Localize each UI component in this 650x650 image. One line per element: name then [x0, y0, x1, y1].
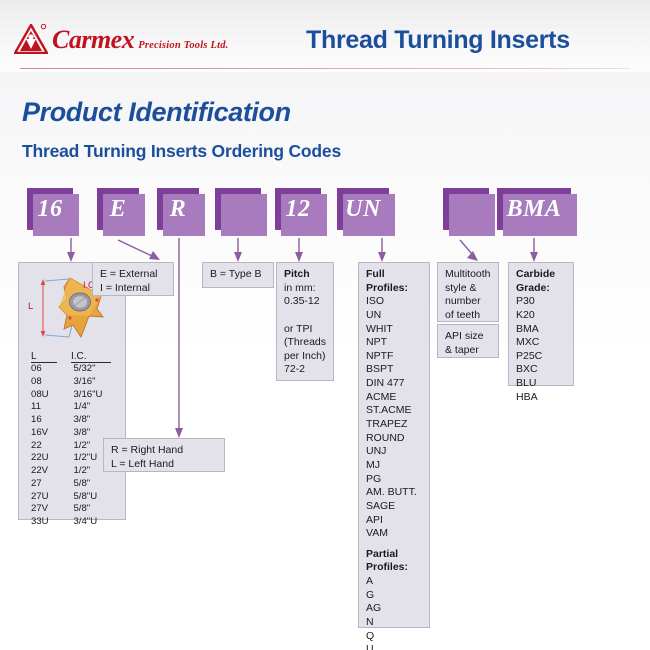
pitch-title: Pitch — [284, 268, 326, 282]
full-profiles-title2: Profiles: — [366, 282, 422, 296]
list-item: TRAPEZ — [366, 418, 422, 432]
partial-profiles-title2: Profiles: — [366, 561, 422, 575]
dimension-label-length: L — [28, 301, 33, 312]
code-box-pitch[interactable]: 12 — [275, 188, 321, 230]
list-item: UNJ — [366, 445, 422, 459]
insert-dimension-panel: L I.C. L I.C. 065/32"083/16"08U3/16"U111… — [18, 262, 126, 520]
cell-l: 27V — [31, 503, 59, 516]
cell-ic: 3/8" — [73, 414, 119, 427]
cell-l: 08 — [31, 376, 59, 389]
table-row: 065/32" — [27, 363, 119, 376]
multitooth-line-1: Multitooth — [445, 268, 491, 282]
full-profiles-list: ISOUNWHITNPTNPTFBSPTDIN 477ACMEST.ACMETR… — [366, 295, 422, 541]
code-box-multitooth[interactable] — [443, 188, 489, 230]
list-item: Q — [366, 630, 422, 644]
api-line-2: & taper — [445, 344, 491, 358]
list-item: ST.ACME — [366, 404, 422, 418]
cell-l: 06 — [31, 363, 59, 376]
page-root: Carmex Precision Tools Ltd. Thread Turni… — [0, 0, 650, 650]
code-box-type[interactable] — [215, 188, 261, 230]
cell-ic: 1/4" — [73, 401, 119, 414]
list-item: AM. BUTT. — [366, 486, 422, 500]
panel-body: B = Type B — [203, 263, 273, 287]
panel-api-size: API size & taper — [437, 324, 499, 358]
list-item: K20 — [516, 309, 566, 323]
list-item: BLU — [516, 377, 566, 391]
full-profiles-title: Full — [366, 268, 422, 282]
list-item: N — [366, 616, 422, 630]
cell-l: 11 — [31, 401, 59, 414]
list-item: ROUND — [366, 432, 422, 446]
panel-external-internal: E = External I = Internal — [92, 262, 174, 296]
api-line-1: API size — [445, 330, 491, 344]
cell-ic: 3/4"U — [73, 516, 119, 529]
line-right-hand: R = Right Hand — [111, 444, 217, 458]
list-item: BXC — [516, 363, 566, 377]
panel-thread-profiles: Full Profiles: ISOUNWHITNPTNPTFBSPTDIN 4… — [358, 262, 430, 628]
table-row: 33U3/4"U — [27, 516, 119, 529]
list-item: MJ — [366, 459, 422, 473]
list-item: MXC — [516, 336, 566, 350]
multitooth-line-4: of teeth — [445, 309, 491, 323]
cell-l: 22U — [31, 452, 59, 465]
column-header-l: L — [31, 351, 57, 363]
list-item: API — [366, 514, 422, 528]
cell-l: 08U — [31, 389, 59, 402]
panel-body: R = Right Hand L = Left Hand — [104, 439, 224, 476]
table-row: 163/8" — [27, 414, 119, 427]
table-row: 27V5/8" — [27, 503, 119, 516]
line-external: E = External — [100, 268, 166, 282]
cell-ic: 5/8" — [73, 478, 119, 491]
carbide-title2: Grade: — [516, 282, 566, 296]
list-item: A — [366, 575, 422, 589]
table-row: 08U3/16"U — [27, 389, 119, 402]
cell-ic: 5/8" — [73, 503, 119, 516]
list-item: P30 — [516, 295, 566, 309]
cell-l: 27 — [31, 478, 59, 491]
cell-l: 22 — [31, 440, 59, 453]
list-item: ISO — [366, 295, 422, 309]
pitch-line-2: 0.35-12 — [284, 295, 326, 309]
cell-ic: 5/8"U — [73, 491, 119, 504]
panel-insert-type: B = Type B — [202, 262, 274, 288]
multitooth-line-3: number — [445, 295, 491, 309]
panel-pitch: Pitch in mm: 0.35-12 or TPI (Threads per… — [276, 262, 334, 381]
panel-body: Full Profiles: ISOUNWHITNPTNPTFBSPTDIN 4… — [359, 263, 429, 650]
line-type-b: B = Type B — [210, 268, 266, 282]
panel-body: Multitooth style & number of teeth — [438, 263, 498, 328]
multitooth-line-2: style & — [445, 282, 491, 296]
table-header-row: L I.C. — [27, 351, 119, 363]
line-internal: I = Internal — [100, 282, 166, 296]
table-row: 275/8" — [27, 478, 119, 491]
list-item: U — [366, 643, 422, 650]
list-item: SAGE — [366, 500, 422, 514]
panel-multitooth: Multitooth style & number of teeth — [437, 262, 499, 322]
code-box-profile[interactable]: UN — [337, 188, 389, 230]
code-box-grade[interactable]: BMA — [497, 188, 571, 230]
code-box-size[interactable]: 16 — [27, 188, 73, 230]
list-item: UN — [366, 309, 422, 323]
column-header-ic: I.C. — [71, 351, 111, 363]
code-box-external[interactable]: E — [97, 188, 139, 230]
pitch-line-7: 72-2 — [284, 363, 326, 377]
carbide-grade-list: P30K20BMAMXCP25CBXCBLUHBA — [516, 295, 566, 404]
list-item: PG — [366, 473, 422, 487]
pitch-line-5: (Threads — [284, 336, 326, 350]
list-item: BSPT — [366, 363, 422, 377]
cell-l: 22V — [31, 465, 59, 478]
list-item: P25C — [516, 350, 566, 364]
panel-body: API size & taper — [438, 325, 498, 362]
cell-l: 16 — [31, 414, 59, 427]
cell-ic: 3/16" — [73, 376, 119, 389]
cell-l: 27U — [31, 491, 59, 504]
table-row: 111/4" — [27, 401, 119, 414]
panel-body: Pitch in mm: 0.35-12 or TPI (Threads per… — [277, 263, 333, 382]
list-item: G — [366, 589, 422, 603]
table-row: 27U5/8"U — [27, 491, 119, 504]
list-item: DIN 477 — [366, 377, 422, 391]
table-row: 083/16" — [27, 376, 119, 389]
pitch-line-6: per Inch) — [284, 350, 326, 364]
pitch-line-1: in mm: — [284, 282, 326, 296]
list-item: WHIT — [366, 323, 422, 337]
list-item: NPT — [366, 336, 422, 350]
carbide-title: Carbide — [516, 268, 566, 282]
cell-l: 33U — [31, 516, 59, 529]
list-item: ACME — [366, 391, 422, 405]
line-left-hand: L = Left Hand — [111, 458, 217, 472]
list-item: VAM — [366, 527, 422, 541]
list-item: BMA — [516, 323, 566, 337]
cell-ic: 3/16"U — [73, 389, 119, 402]
code-box-hand[interactable]: R — [157, 188, 199, 230]
partial-profiles-list: AGAGNQU — [366, 575, 422, 650]
partial-profiles-title: Partial — [366, 548, 422, 562]
panel-body: E = External I = Internal — [93, 263, 173, 300]
list-item: NPTF — [366, 350, 422, 364]
pitch-line-4: or TPI — [284, 323, 326, 337]
pitch-spacer — [284, 309, 326, 323]
list-item: HBA — [516, 391, 566, 405]
list-item: AG — [366, 602, 422, 616]
panel-body: Carbide Grade: P30K20BMAMXCP25CBXCBLUHBA — [509, 263, 573, 409]
panel-carbide-grade: Carbide Grade: P30K20BMAMXCP25CBXCBLUHBA — [508, 262, 574, 386]
cell-ic: 5/32" — [73, 363, 119, 376]
panel-hand-direction: R = Right Hand L = Left Hand — [103, 438, 225, 472]
cell-l: 16V — [31, 427, 59, 440]
